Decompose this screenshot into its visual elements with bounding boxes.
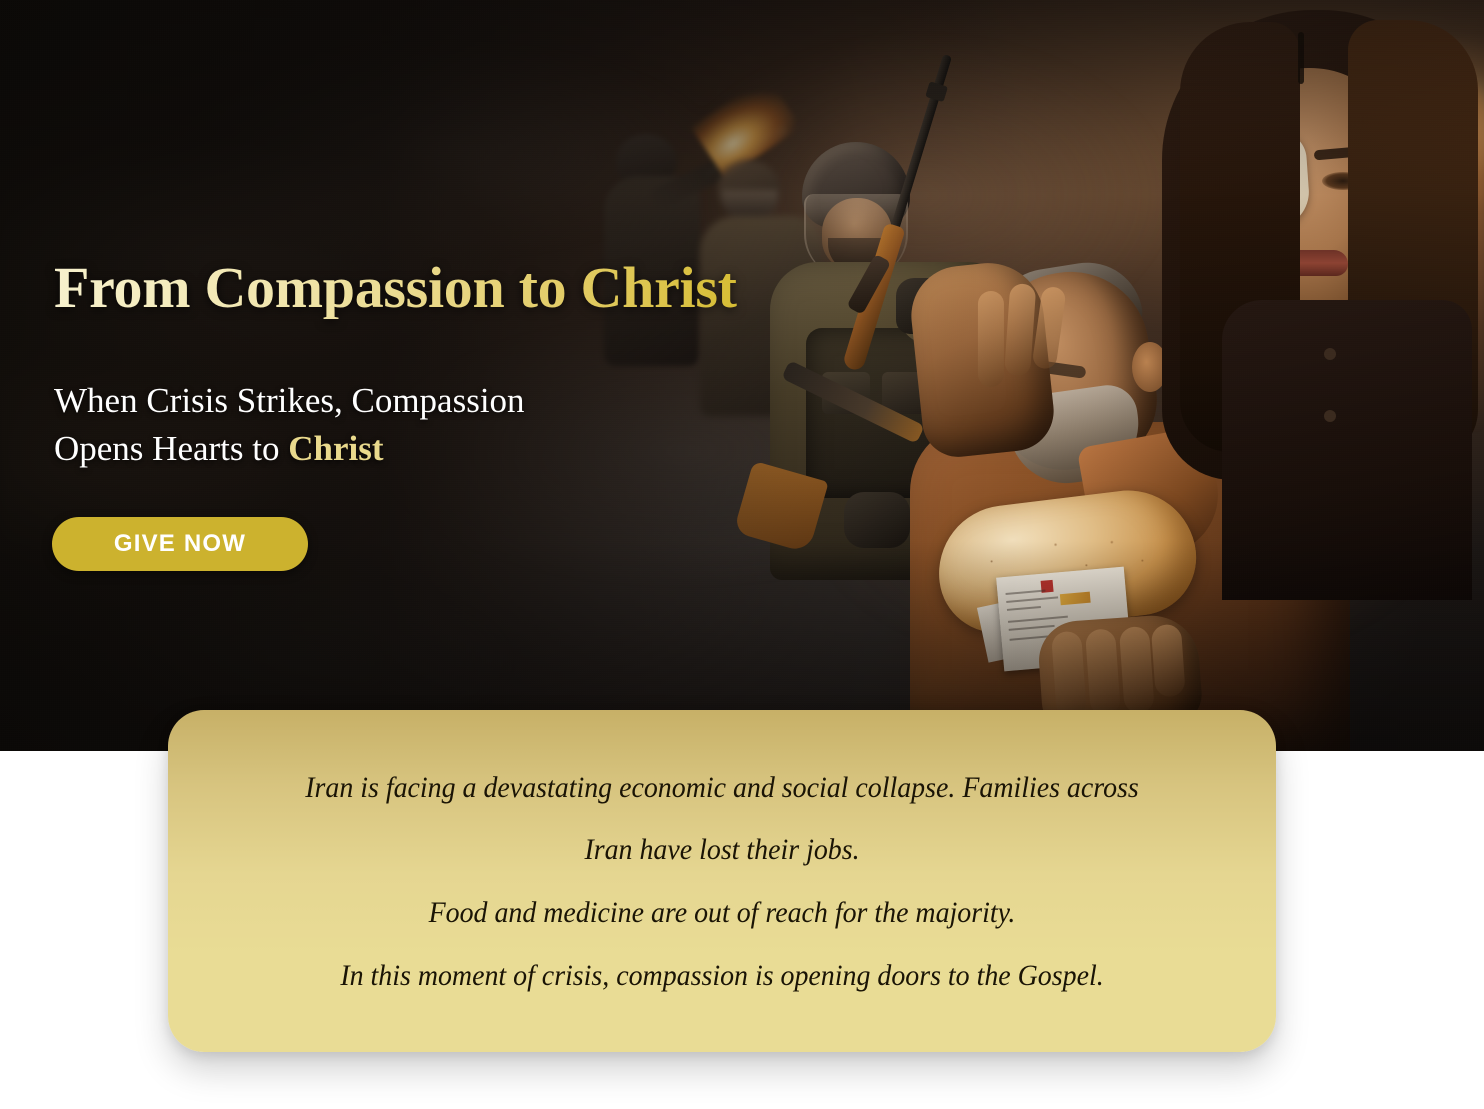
- page-title: From Compassion to Christ: [54, 258, 914, 319]
- hero-subtitle-accent: Christ: [288, 429, 383, 468]
- message-line-4: In this moment of crisis, compassion is …: [244, 958, 1200, 995]
- hero-subtitle: When Crisis Strikes, Compassion Opens He…: [54, 377, 914, 474]
- hero-subtitle-line-2: Opens Hearts to: [54, 429, 288, 468]
- hero-copy-block: From Compassion to Christ When Crisis St…: [54, 258, 914, 473]
- hero-subtitle-line-1: When Crisis Strikes, Compassion: [54, 381, 525, 420]
- hero-banner: From Compassion to Christ When Crisis St…: [0, 0, 1484, 751]
- give-now-button[interactable]: GIVE NOW: [52, 517, 308, 571]
- message-line-1: Iran is facing a devastating economic an…: [244, 770, 1200, 807]
- message-line-3: Food and medicine are out of reach for t…: [244, 895, 1200, 932]
- landing-page: From Compassion to Christ When Crisis St…: [0, 0, 1484, 1109]
- message-card: Iran is facing a devastating economic an…: [168, 710, 1276, 1052]
- message-line-2: Iran have lost their jobs.: [244, 832, 1200, 869]
